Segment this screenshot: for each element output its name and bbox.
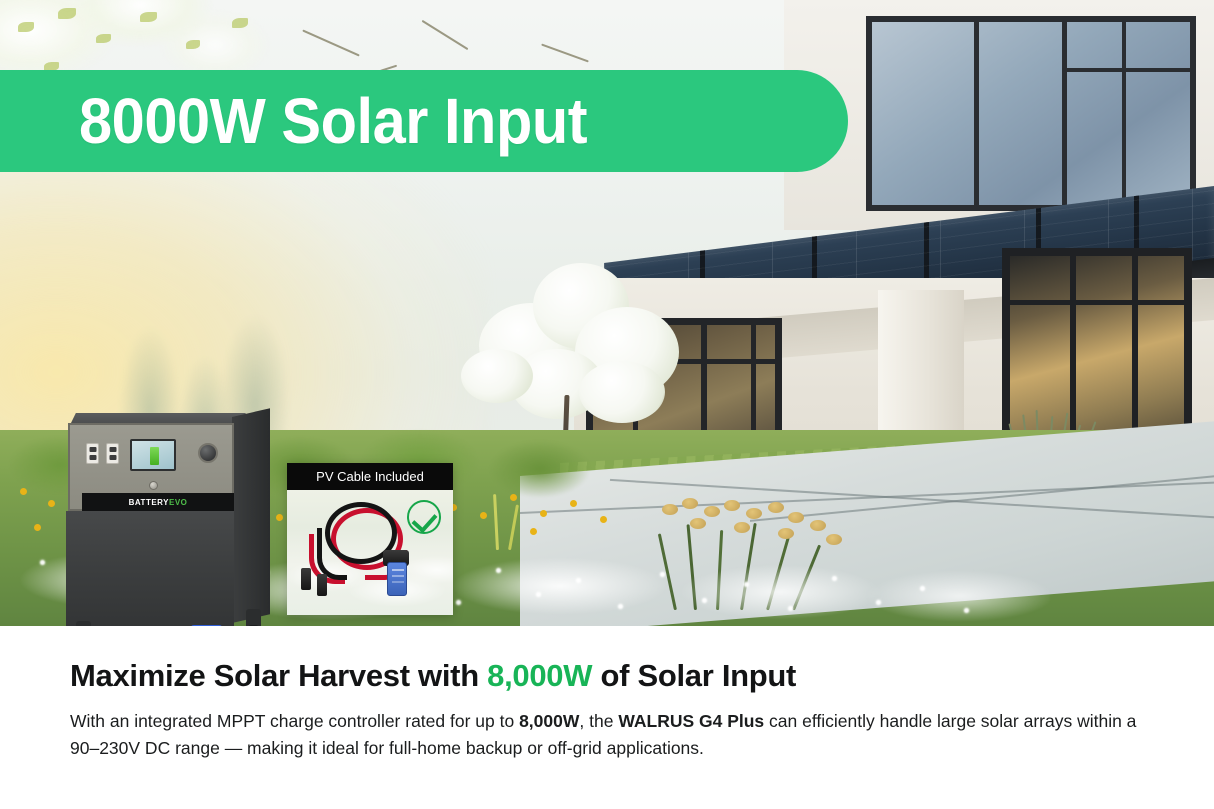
pv-cable-black-tail: [317, 528, 347, 580]
pv-cable-card: PV Cable Included: [287, 463, 453, 615]
headline-banner: 8000W Solar Input: [0, 70, 848, 172]
body-part-1: With an integrated MPPT charge controlle…: [70, 711, 519, 731]
pv-card-header: PV Cable Included: [287, 463, 453, 490]
unit-body: G4+ B ATTERYEVO: [66, 511, 234, 626]
mc4-connector-2: [317, 574, 327, 596]
banner-title: 8000W Solar Input: [0, 84, 587, 158]
body-bold-wattage: 8,000W: [519, 711, 579, 731]
content-section: Maximize Solar Harvest with 8,000W of So…: [70, 658, 1160, 761]
body-part-2: , the: [579, 711, 618, 731]
battery-unit-product: BATTERYEVO G4+ B ATTERYEVO: [62, 413, 270, 626]
headline-highlight: 8,000W: [487, 658, 592, 693]
headline-part-2: of Solar Input: [592, 658, 796, 693]
ac-outlet-1: [86, 443, 99, 464]
headline-part-1: Maximize Solar Harvest with: [70, 658, 487, 693]
blue-connector-block: [387, 562, 407, 596]
ac-outlet-2: [106, 443, 119, 464]
unit-side-panel: [232, 408, 270, 623]
rotary-dial[interactable]: [198, 443, 218, 463]
caster-wheel-1: [76, 621, 91, 626]
section-body: With an integrated MPPT charge controlle…: [70, 708, 1145, 761]
caster-wheel-3: [246, 609, 261, 626]
green-check-circle-icon: [407, 500, 441, 534]
body-bold-product: WALRUS G4 Plus: [618, 711, 764, 731]
hero-image: BATTERYEVO G4+ B ATTERYEVO PV Cable I: [0, 0, 1214, 626]
unit-control-panel: BATTERYEVO: [68, 423, 234, 511]
brand-prefix: BATTERY: [129, 498, 169, 507]
marketing-hero-page: BATTERYEVO G4+ B ATTERYEVO PV Cable I: [0, 0, 1214, 809]
model-badge: G4+: [190, 625, 223, 626]
brand-suffix: EVO: [169, 498, 187, 507]
section-headline: Maximize Solar Harvest with 8,000W of So…: [70, 658, 1160, 694]
brand-logo-bar: BATTERYEVO: [82, 493, 234, 512]
lcd-display[interactable]: [130, 439, 176, 471]
mc4-connector-1: [301, 568, 311, 590]
pv-card-image: [287, 490, 453, 615]
upper-window: [866, 16, 1196, 211]
pv-card-title: PV Cable Included: [316, 469, 424, 484]
power-button[interactable]: [149, 481, 158, 490]
